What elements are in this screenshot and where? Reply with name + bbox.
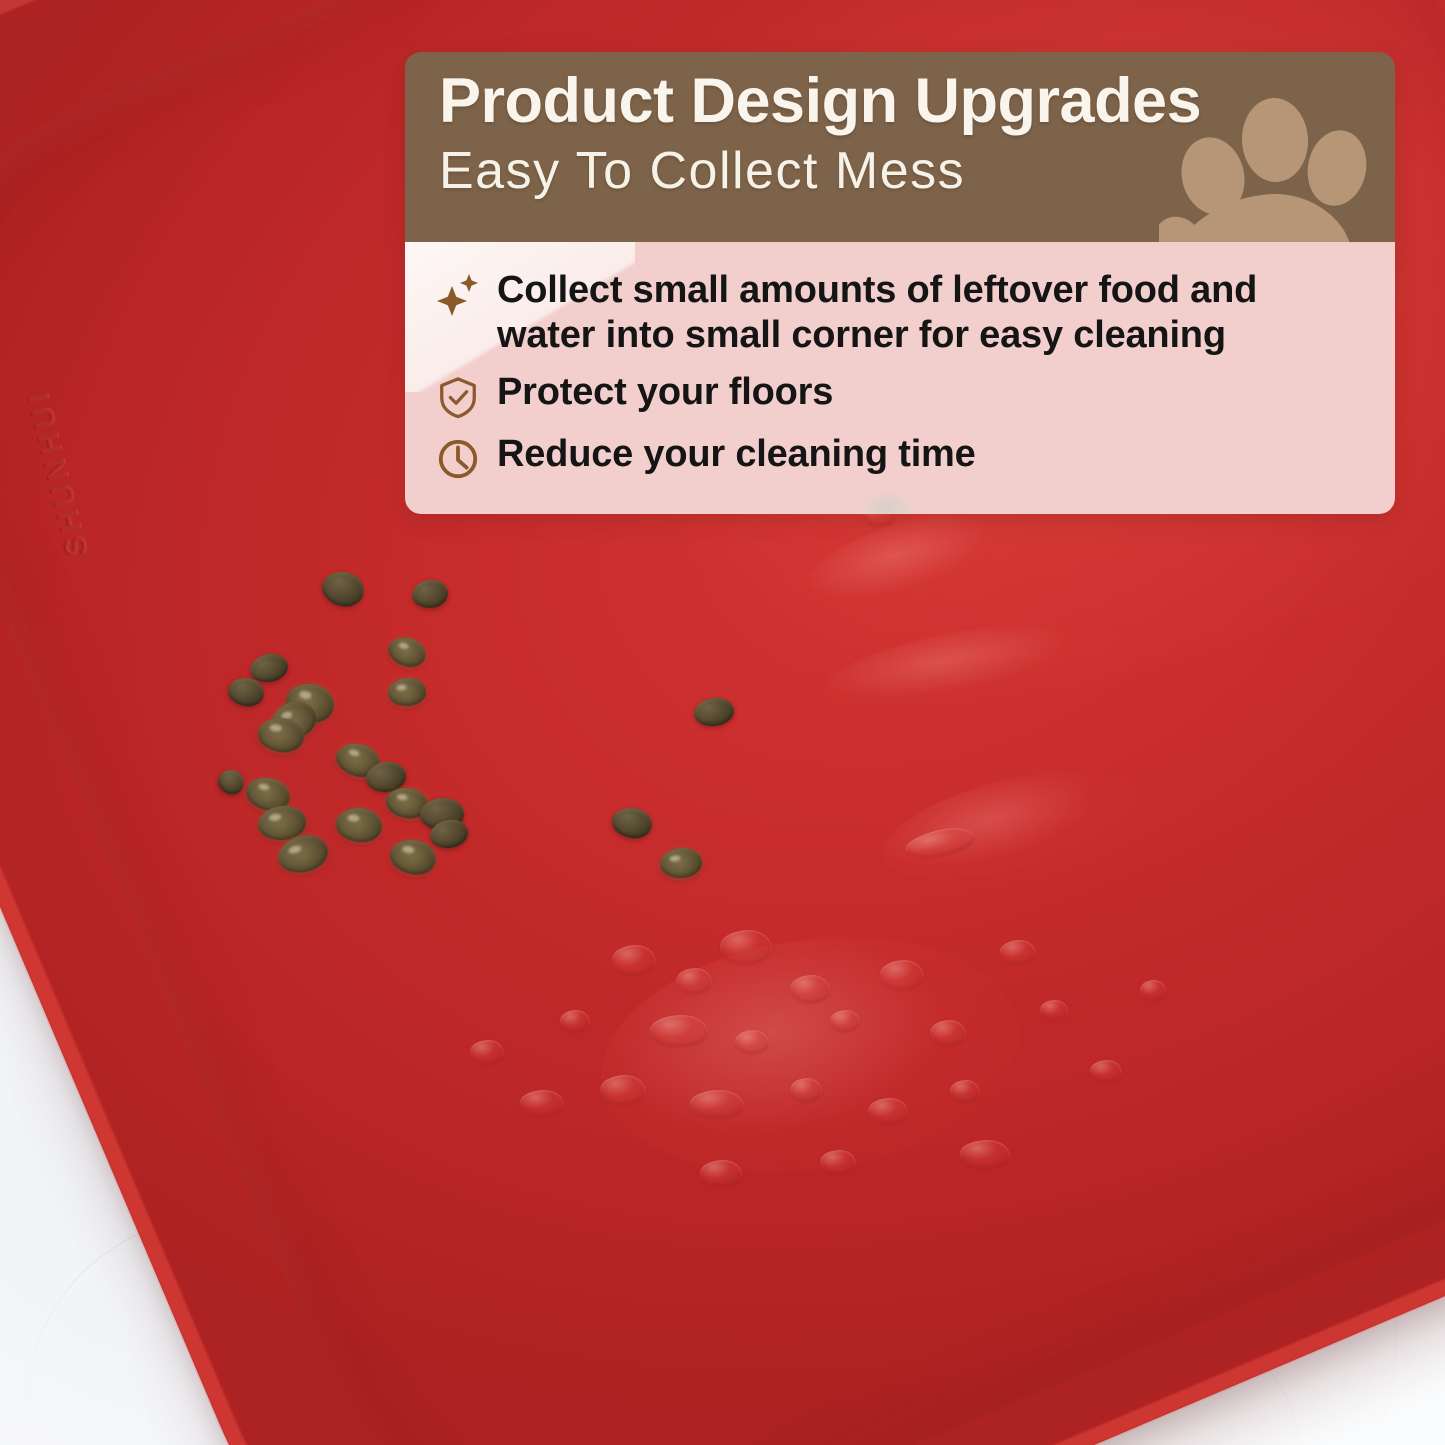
panel-body: Collect small amounts of leftover food a… — [405, 242, 1395, 514]
panel-title: Product Design Upgrades — [439, 68, 1361, 134]
feature-text: Collect small amounts of leftover food a… — [497, 268, 1365, 358]
panel-header: Product Design Upgrades Easy To Collect … — [405, 52, 1395, 242]
product-feature-panel: Product Design Upgrades Easy To Collect … — [405, 52, 1395, 514]
feature-item: Reduce your cleaning time — [435, 432, 1365, 482]
feature-list: Collect small amounts of leftover food a… — [435, 268, 1365, 482]
feature-item: Protect your floors — [435, 370, 1365, 420]
shield-check-icon — [435, 374, 481, 420]
panel-subtitle: Easy To Collect Mess — [439, 144, 1361, 199]
feature-text: Protect your floors — [497, 370, 833, 415]
clock-icon — [435, 436, 481, 482]
feature-item: Collect small amounts of leftover food a… — [435, 268, 1365, 358]
sparkle-icon — [435, 272, 481, 318]
feature-text: Reduce your cleaning time — [497, 432, 976, 477]
